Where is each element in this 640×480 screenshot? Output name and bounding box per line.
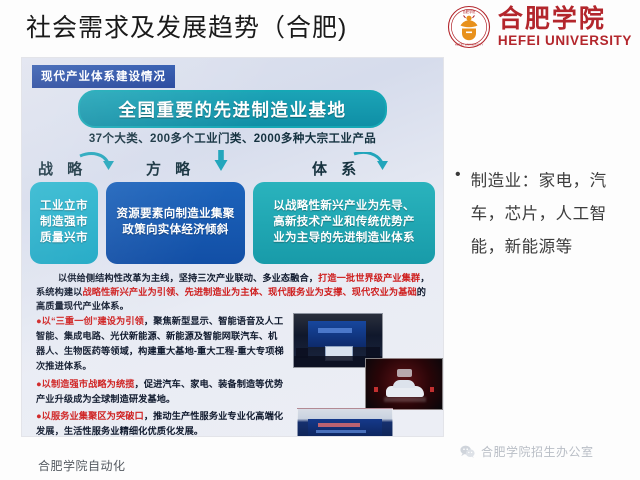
right-bullet-item: • 制造业：家电，汽车，芯片，人工智能，新能源等: [455, 165, 635, 264]
box-approach: 资源要素向制造业集聚 政策向实体经济倾斜: [106, 182, 245, 264]
bullet-item-3: ●以服务业集聚区为突破口，推动生产性服务业专业化高端化发展，生活性服务业精细化优…: [36, 409, 286, 436]
hefei-university-emblem-icon: 合肥学院 HEFEI UNIVERSITY: [447, 5, 491, 49]
footer-left-text: 合肥学院自动化: [38, 457, 126, 474]
car-launch-photo: [365, 358, 443, 410]
slide-paragraph: 以供给侧结构性改革为主线，坚持三次产业联动、多业态融合，打造一批世界级产业集群，…: [36, 272, 432, 313]
wechat-account-name: 合肥学院招生办公室: [481, 443, 594, 460]
right-bullet-column: • 制造业：家电，汽车，芯片，人工智能，新能源等: [455, 165, 635, 264]
column-boxes: 工业立市 制造强市 质量兴市 资源要素向制造业集聚 政策向实体经济倾斜 以战略性…: [22, 182, 443, 266]
bullet-item-2: ●以制造强市战略为统揽，促进汽车、家电、装备制造等优势产业升级成为全球制造研发基…: [36, 377, 286, 407]
box-system: 以战略性新兴产业为先导、 高新技术产业和传统优势产 业为主导的先进制造业体系: [253, 182, 435, 264]
logo-name-en: HEFEI UNIVERSITY: [498, 34, 632, 48]
slide-headline-text: 全国重要的先进制造业基地: [119, 97, 347, 122]
slide-root: 社会需求及发展趋势（合肥) 合肥学院 HEFEI UNIVERSITY 合肥学: [0, 0, 640, 480]
bullet-item-1: ●以“三重一创”建设为引领，聚焦新型显示、智能语音及人工智能、集成电路、光伏新能…: [36, 314, 286, 374]
column-heading-strategy: 战 略: [38, 158, 87, 179]
wechat-account-footer: 合肥学院招生办公室: [460, 443, 594, 460]
slide-headline: 全国重要的先进制造业基地: [78, 90, 387, 128]
page-header: 社会需求及发展趋势（合肥) 合肥学院 HEFEI UNIVERSITY 合肥学: [0, 0, 640, 54]
column-headings: 战 略 方 略 体 系: [22, 158, 443, 180]
column-heading-system: 体 系: [312, 158, 361, 179]
svg-text:HEFEI UNIVERSITY: HEFEI UNIVERSITY: [455, 42, 484, 46]
forum-audience-photo: [297, 408, 393, 436]
bullet-point-icon: •: [455, 167, 461, 184]
bullet-red-2: 以制造强市战略为统揽: [42, 379, 135, 389]
slide-subline: 37个大类、200多个工业门类、2000多种大宗工业产品: [22, 130, 443, 146]
wechat-icon: [460, 445, 475, 458]
svg-text:合肥学院: 合肥学院: [463, 9, 477, 14]
slide-bullet-list: ●以“三重一创”建设为引领，聚焦新型显示、智能语音及人工智能、集成电路、光伏新能…: [36, 314, 286, 436]
paragraph-segment-1: 以供给侧结构性改革为主线，坚持三次产业联动、多业态融合，: [58, 273, 318, 283]
right-bullet-text: 制造业：家电，汽车，芯片，人工智能，新能源等: [471, 165, 635, 264]
paragraph-segment-2: 打造一批世界级产业集群: [318, 273, 420, 283]
box-approach-text: 资源要素向制造业集聚 政策向实体经济倾斜: [117, 207, 235, 239]
bullet-red-3: 以服务业集聚区为突破口: [42, 411, 144, 421]
logo-name-cn: 合肥学院: [498, 6, 606, 31]
box-system-text: 以战略性新兴产业为先导、 高新技术产业和传统优势产 业为主导的先进制造业体系: [273, 199, 415, 247]
box-strategy-text: 工业立市 制造强市 质量兴市: [40, 199, 88, 247]
university-logo: 合肥学院 HEFEI UNIVERSITY 合肥学院 HEFEI UNIVERS…: [447, 5, 632, 49]
box-strategy: 工业立市 制造强市 质量兴市: [30, 182, 98, 264]
logo-wordmark: 合肥学院 HEFEI UNIVERSITY: [498, 6, 632, 48]
bullet-red-1: 以“三重一创”建设为引领: [42, 316, 144, 326]
column-heading-approach: 方 略: [146, 158, 195, 179]
embedded-slide-image: 现代产业体系建设情况 全国重要的先进制造业基地 37个大类、200多个工业门类、…: [22, 58, 443, 436]
page-title: 社会需求及发展趋势（合肥): [26, 8, 347, 44]
slide-badge: 现代产业体系建设情况: [32, 65, 175, 88]
paragraph-segment-4: 战略性新兴产业为引领、先进制造业为主体、现代服务业为支撑、现代农业为基础: [82, 287, 416, 297]
